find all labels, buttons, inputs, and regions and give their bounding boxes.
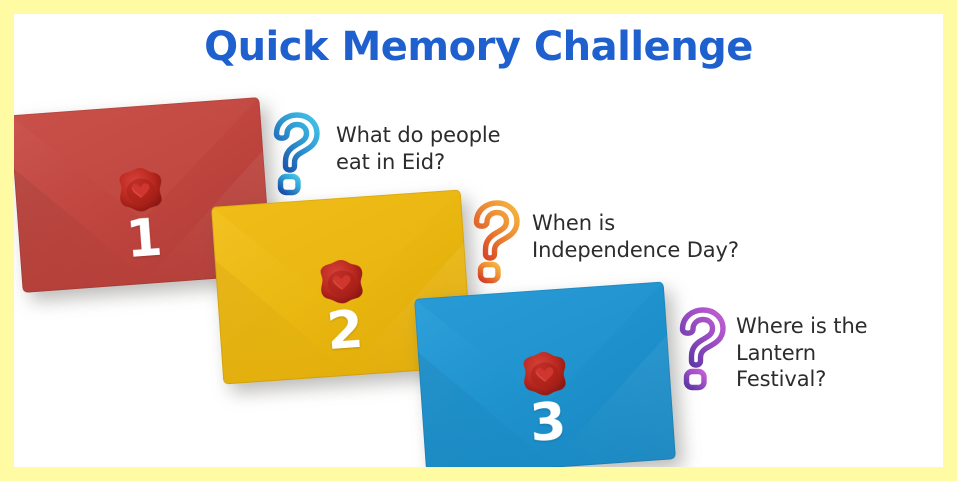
envelope-card-3[interactable]: 3 [414, 281, 676, 467]
poster-stage: Quick Memory Challenge [14, 14, 943, 467]
question-mark-icon [672, 306, 734, 392]
envelope-number: 1 [124, 211, 164, 266]
page-title: Quick Memory Challenge [14, 24, 943, 70]
question-text-1: What do people eat in Eid? [336, 122, 566, 175]
envelope-number: 2 [325, 303, 365, 357]
poster-frame: Quick Memory Challenge [0, 0, 957, 481]
envelope-number: 3 [528, 395, 568, 449]
question-mark-icon [466, 199, 528, 285]
question-text-3: Where is the Lantern Festival? [736, 313, 926, 393]
question-text-2: When is Independence Day? [532, 210, 782, 263]
question-mark-icon [266, 111, 328, 197]
